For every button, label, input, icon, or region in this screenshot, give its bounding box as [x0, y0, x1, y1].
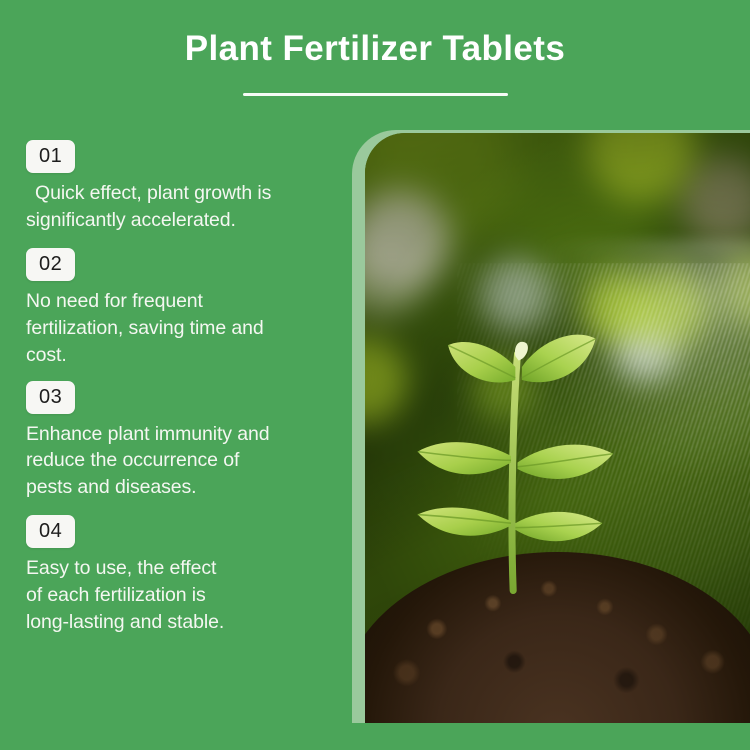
feature-number-badge: 01: [26, 140, 75, 173]
page-title: Plant Fertilizer Tablets: [0, 30, 750, 69]
feature-item-02: 02 No need for frequent fertilization, s…: [26, 248, 331, 369]
product-poster: Plant Fertilizer Tablets 01 Quick effect…: [0, 0, 750, 750]
feature-number-badge: 03: [26, 381, 75, 414]
title-divider: [243, 93, 508, 96]
feature-text: Easy to use, the effect of each fertiliz…: [26, 555, 331, 636]
feature-text: No need for frequent fertilization, savi…: [26, 288, 331, 369]
product-photo: [365, 133, 750, 723]
seedling-plant-icon: [396, 257, 635, 599]
feature-item-01: 01 Quick effect, plant growth is signifi…: [26, 140, 331, 234]
feature-item-03: 03 Enhance plant immunity and reduce the…: [26, 381, 331, 502]
feature-list: 01 Quick effect, plant growth is signifi…: [26, 140, 331, 636]
photo-frame-bottom-fill: [352, 723, 750, 729]
feature-text: Quick effect, plant growth is significan…: [26, 180, 331, 234]
title-block: Plant Fertilizer Tablets: [0, 30, 750, 96]
feature-item-04: 04 Easy to use, the effect of each ferti…: [26, 515, 331, 636]
feature-number-badge: 04: [26, 515, 75, 548]
feature-number-badge: 02: [26, 248, 75, 281]
feature-text: Enhance plant immunity and reduce the oc…: [26, 421, 331, 502]
